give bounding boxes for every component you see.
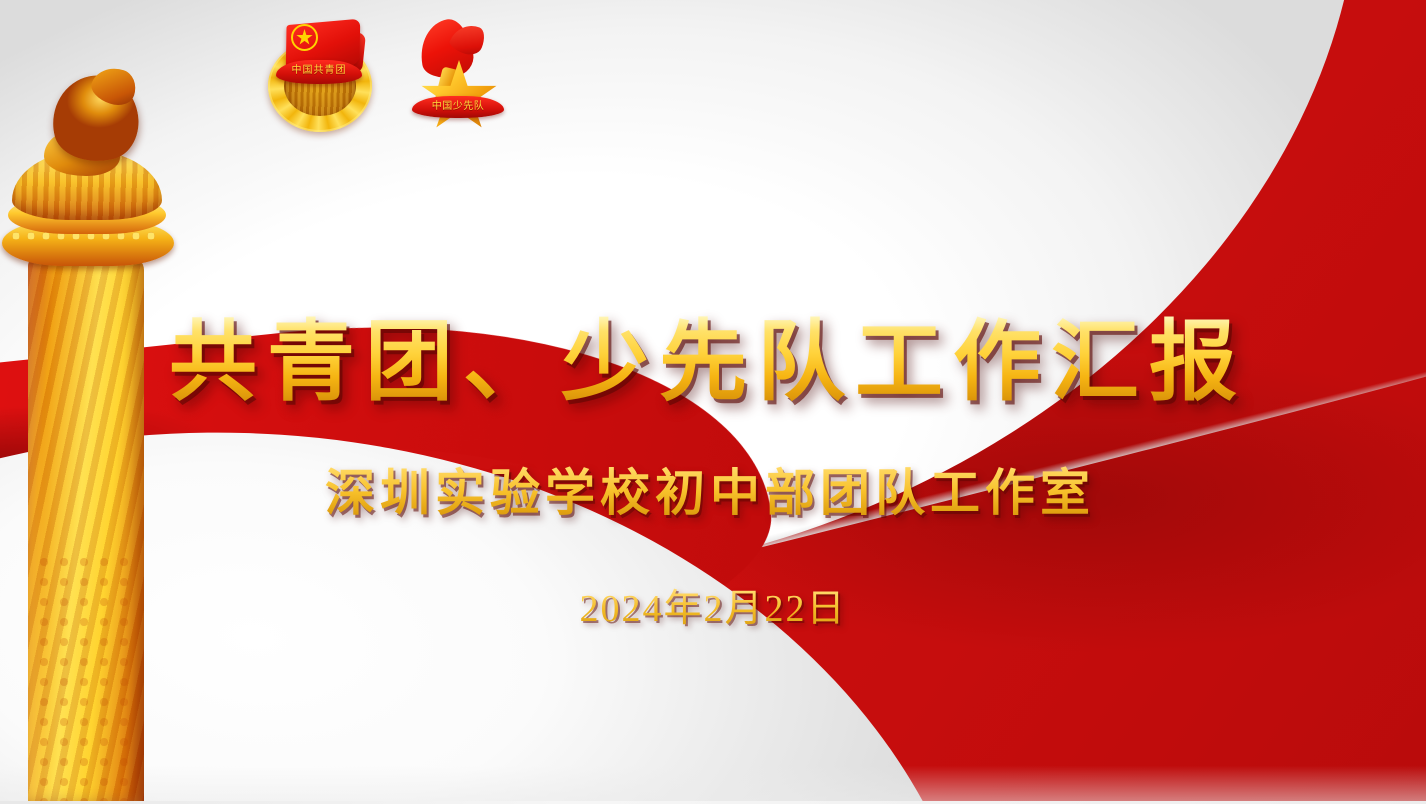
young-pioneers-emblem: 中国少先队 bbox=[400, 18, 512, 136]
page-title: 共青团、少先队工作汇报 bbox=[0, 316, 1426, 411]
cyl-banner: 中国共青团 bbox=[276, 60, 362, 84]
title-slide: 中国共青团 中国少先队 共青团、少先队工作汇报 深圳实验学校初中部团队工作室 2… bbox=[0, 0, 1426, 804]
emblem-group: 中国共青团 中国少先队 bbox=[262, 18, 512, 136]
young-pioneers-banner: 中国少先队 bbox=[412, 96, 504, 118]
young-pioneers-banner-label: 中国少先队 bbox=[432, 102, 485, 112]
page-subtitle: 深圳实验学校初中部团队工作室 bbox=[0, 453, 1426, 525]
cyl-banner-label: 中国共青团 bbox=[292, 66, 347, 76]
page-date: 2024年2月22日 bbox=[0, 577, 1426, 632]
title-text-block: 共青团、少先队工作汇报 深圳实验学校初中部团队工作室 2024年2月22日 bbox=[0, 316, 1426, 632]
communist-youth-league-emblem: 中国共青团 bbox=[262, 18, 380, 136]
